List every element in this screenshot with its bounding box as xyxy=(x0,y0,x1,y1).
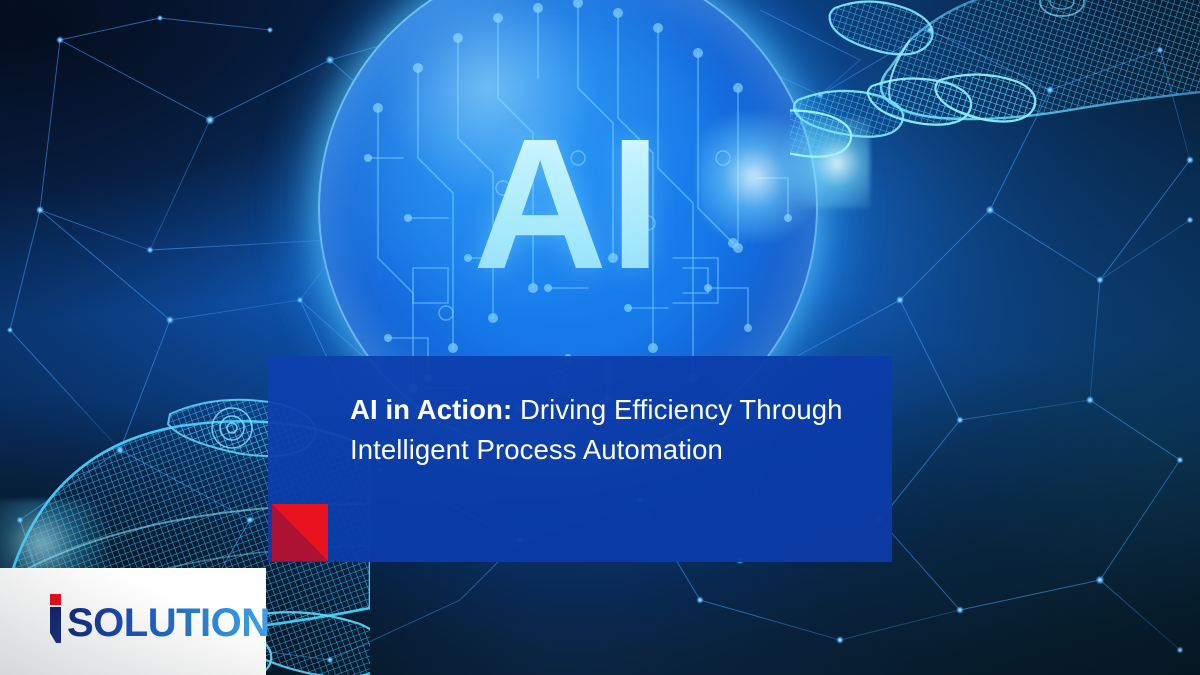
logo-i-stem xyxy=(50,607,61,643)
headline-container: AI in Action: Driving Efficiency Through… xyxy=(350,390,862,470)
logo-wordmark: SOLUTION xyxy=(67,603,270,643)
logo-container: SOLUTION xyxy=(0,568,266,675)
wireframe-hand-icon xyxy=(790,0,1200,210)
page-title: AI in Action: Driving Efficiency Through… xyxy=(350,390,862,470)
logo-letter-i xyxy=(47,603,63,643)
logo-red-dot-icon xyxy=(50,594,61,605)
red-accent-square xyxy=(272,504,328,561)
hero-banner: AI xyxy=(0,0,1200,675)
isolution-logo[interactable]: SOLUTION xyxy=(47,597,270,643)
headline-panel: AI in Action: Driving Efficiency Through… xyxy=(268,356,892,562)
headline-bold-prefix: AI in Action: xyxy=(350,394,512,425)
